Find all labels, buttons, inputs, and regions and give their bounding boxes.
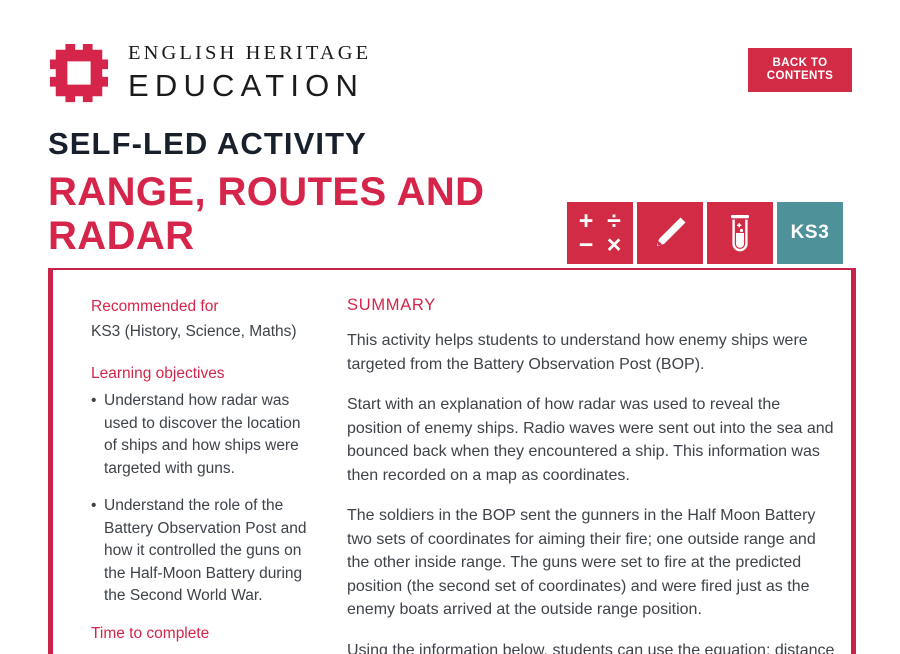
list-item: Understand the role of the Battery Obser… — [91, 495, 313, 608]
details-right-column: SUMMARY This activity helps students to … — [347, 296, 837, 654]
activity-details-box: Recommended for KS3 (History, Science, M… — [48, 268, 856, 654]
summary-heading: SUMMARY — [347, 296, 837, 315]
recommended-for-label: Recommended for — [91, 296, 313, 318]
tile-science[interactable] — [707, 202, 773, 264]
learning-objectives-list: Understand how radar was used to discove… — [91, 390, 313, 608]
divide-symbol: ÷ — [607, 211, 621, 231]
tile-writing[interactable] — [637, 202, 703, 264]
summary-paragraph: The soldiers in the BOP sent the gunners… — [347, 504, 837, 622]
back-to-contents-button[interactable]: BACK TO CONTENTS — [748, 48, 852, 92]
english-heritage-castellated-mark-icon — [48, 42, 110, 104]
maths-symbols-icon: + ÷ − × — [576, 211, 624, 255]
tile-maths[interactable]: + ÷ − × — [567, 202, 633, 264]
page-root: ENGLISH HERITAGE EDUCATION BACK TO CONTE… — [0, 0, 900, 654]
ks3-badge-label: KS3 — [791, 222, 830, 244]
test-tube-icon — [720, 211, 760, 255]
time-to-complete-label: Time to complete — [91, 623, 313, 645]
pencil-icon — [650, 213, 690, 253]
recommended-for-value: KS3 (History, Science, Maths) — [91, 321, 313, 343]
subject-tiles: + ÷ − × KS3 — [567, 202, 843, 264]
summary-paragraph: This activity helps students to understa… — [347, 329, 837, 376]
brand-line-2: EDUCATION — [128, 67, 371, 104]
brand-logo: ENGLISH HERITAGE EDUCATION — [48, 42, 371, 104]
back-to-contents-line-2: CONTENTS — [767, 70, 833, 84]
back-to-contents-line-1: BACK TO — [773, 57, 828, 71]
brand-line-1: ENGLISH HERITAGE — [128, 42, 371, 66]
multiply-symbol: × — [607, 235, 622, 255]
plus-symbol: + — [579, 211, 594, 231]
tile-key-stage[interactable]: KS3 — [777, 202, 843, 264]
page-title: RANGE, ROUTES AND RADAR — [48, 170, 558, 258]
summary-paragraph: Using the information below, students ca… — [347, 639, 837, 654]
list-item: Understand how radar was used to discove… — [91, 390, 313, 480]
activity-type-kicker: SELF-LED ACTIVITY — [48, 126, 367, 162]
details-left-column: Recommended for KS3 (History, Science, M… — [91, 296, 313, 654]
minus-symbol: − — [579, 235, 594, 255]
summary-paragraph: Start with an explanation of how radar w… — [347, 393, 837, 487]
learning-objectives-label: Learning objectives — [91, 363, 313, 385]
